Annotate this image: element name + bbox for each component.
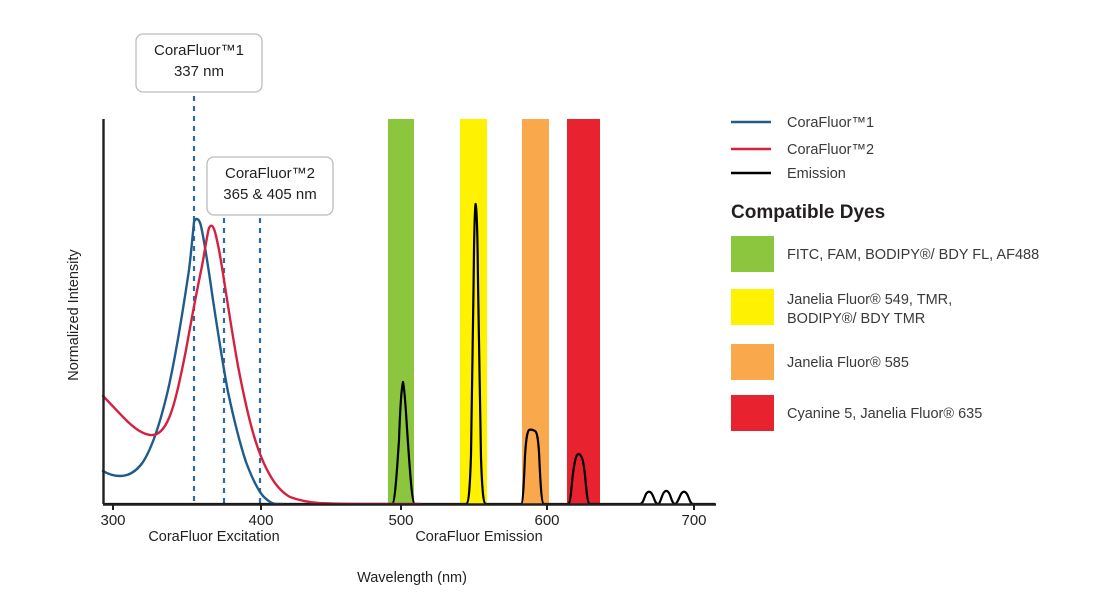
dye-swatch-orange: [731, 344, 774, 380]
dye-label-yellow-line1: Janelia Fluor® 549, TMR,: [787, 292, 952, 308]
band-green: [388, 119, 414, 504]
callout-corafluor1-line1: CoraFluor™1: [154, 42, 244, 59]
callout-corafluor2-line1: CoraFluor™2: [225, 165, 315, 182]
legend-label-corafluor2: CoraFluor™2: [787, 142, 874, 158]
corafluor1-excitation-curve: [103, 219, 282, 504]
compatible-dyes-heading: Compatible Dyes: [731, 202, 885, 223]
sub-axis-label-excitation: CoraFluor Excitation: [148, 529, 279, 545]
dye-label-yellow-line2: BODIPY®/ BDY TMR: [787, 311, 925, 327]
callout-corafluor2: CoraFluor™2 365 & 405 nm: [207, 157, 333, 215]
callout-corafluor2-line2: 365 & 405 nm: [223, 186, 316, 203]
chart-figure: 300 400 500 600 700 CoraFluor Excitation…: [0, 0, 1110, 612]
band-red: [567, 119, 600, 504]
x-tick-label-400: 400: [248, 512, 273, 529]
compatible-dyes-panel: Compatible Dyes FITC, FAM, BODIPY®/ BDY …: [731, 202, 1039, 431]
callout-corafluor1: CoraFluor™1 337 nm: [136, 34, 262, 92]
chart-legend: CoraFluor™1 CoraFluor™2 Emission: [731, 115, 874, 182]
dye-swatch-red: [731, 395, 774, 431]
dye-label-red: Cyanine 5, Janelia Fluor® 635: [787, 406, 982, 422]
x-tick-label-300: 300: [100, 512, 125, 529]
sub-axis-label-emission: CoraFluor Emission: [415, 529, 542, 545]
dye-swatch-green: [731, 236, 774, 272]
x-axis-title: Wavelength (nm): [357, 570, 467, 586]
legend-label-corafluor1: CoraFluor™1: [787, 115, 874, 131]
legend-label-emission: Emission: [787, 166, 846, 182]
dye-label-orange: Janelia Fluor® 585: [787, 355, 909, 371]
spectra-chart: 300 400 500 600 700 CoraFluor Excitation…: [0, 0, 1110, 612]
corafluor2-excitation-curve: [103, 226, 420, 504]
dye-label-green: FITC, FAM, BODIPY®/ BDY FL, AF488: [787, 247, 1039, 263]
y-axis-title: Normalized Intensity: [66, 249, 82, 381]
x-tick-label-700: 700: [681, 512, 706, 529]
x-tick-label-600: 600: [534, 512, 559, 529]
emission-bands: [388, 119, 600, 504]
callout-corafluor1-line2: 337 nm: [174, 63, 224, 80]
dye-swatch-yellow: [731, 289, 774, 325]
x-tick-label-500: 500: [388, 512, 413, 529]
